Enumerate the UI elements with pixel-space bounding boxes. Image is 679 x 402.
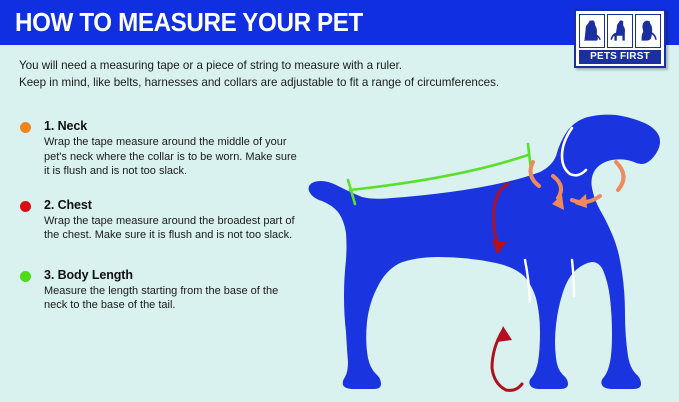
step-description-body-length: Measure the length starting from the bas… [44,284,304,313]
bullet-neck-icon [20,122,31,133]
intro-line-1: You will need a measuring tape or a piec… [19,58,564,75]
logo-wordmark: PETS FIRST [579,50,661,64]
step-item-body-length: 3. Body Length Measure the length starti… [19,267,304,313]
step-item-chest: 2. Chest Wrap the tape measure around th… [19,197,304,243]
measurement-steps-list: 1. Neck Wrap the tape measure around the… [19,118,304,327]
step-title-neck: 1. Neck [44,118,304,134]
dog-measurement-diagram: BODY LENGTH NECK CHEST [300,100,679,402]
dog-standing-icon [607,14,633,48]
intro-line-2: Keep in mind, like belts, harnesses and … [19,75,564,92]
step-description-chest: Wrap the tape measure around the broades… [44,214,304,243]
dog-sitting-side-icon [635,14,661,48]
step-description-neck: Wrap the tape measure around the middle … [44,135,304,179]
bullet-body-length-icon [20,271,31,282]
step-item-neck: 1. Neck Wrap the tape measure around the… [19,118,304,179]
dog-sitting-icon [579,14,605,48]
page-title: HOW TO MEASURE YOUR PET [15,7,363,38]
step-title-chest: 2. Chest [44,197,304,213]
logo-icon-row [579,14,661,48]
dog-silhouette-icon [300,100,679,402]
step-title-body-length: 3. Body Length [44,267,304,283]
pets-first-logo: PETS FIRST [574,9,666,68]
how-to-measure-your-pet-infographic: HOW TO MEASURE YOUR PET [0,0,679,402]
bullet-chest-icon [20,201,31,212]
intro-paragraph: You will need a measuring tape or a piec… [19,58,564,91]
